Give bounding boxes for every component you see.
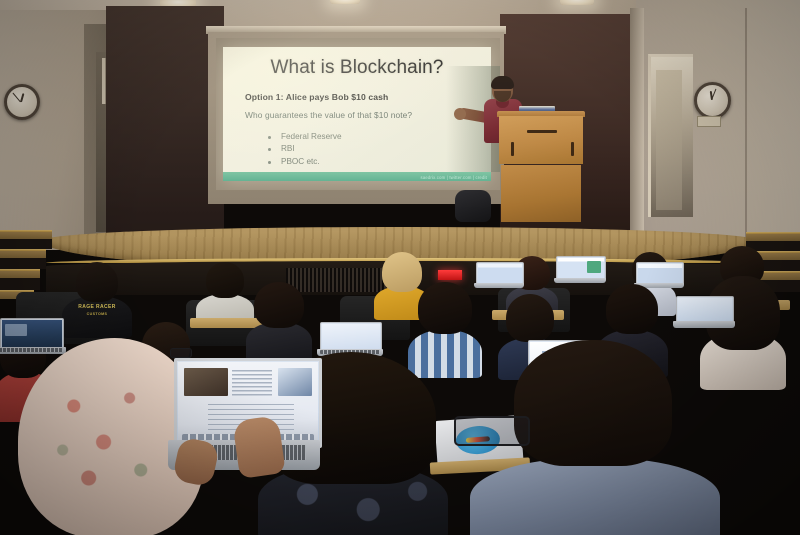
podium-handle-left xyxy=(511,142,514,156)
podium-upper-panel xyxy=(499,116,583,164)
laptop[interactable] xyxy=(556,256,604,284)
slide-bullet-item: PBOC etc. xyxy=(267,156,342,168)
ceiling-light-2 xyxy=(330,0,360,4)
podium xyxy=(497,111,585,222)
presenter-hand xyxy=(454,108,466,120)
podium-slot xyxy=(527,130,557,133)
slide-footer-text: saedrix.com | twitter.com | credit xyxy=(421,175,487,180)
wall-sign-right xyxy=(697,116,721,127)
laptop-screen-content xyxy=(638,264,682,284)
backpack-on-stage xyxy=(455,190,491,222)
stage-red-indicator xyxy=(438,270,462,280)
laptop[interactable] xyxy=(320,322,380,356)
laptop-base[interactable] xyxy=(554,278,606,283)
audience-member-foreground xyxy=(470,340,720,535)
lecture-hall-photo: What is Blockchain? Option 1: Alice pays… xyxy=(0,0,800,535)
laptop-window-panel xyxy=(587,261,601,273)
laptop[interactable] xyxy=(676,296,732,328)
eyeglasses xyxy=(170,348,192,358)
laptop-screen[interactable] xyxy=(676,296,734,324)
browser-image-thumb xyxy=(184,368,228,396)
student-hair xyxy=(514,340,672,466)
student-torso: RAGE RACER CUSTOMS xyxy=(62,296,132,338)
student-hair xyxy=(76,262,118,302)
browser-text-block xyxy=(232,370,272,396)
slide-footer-bar: saedrix.com | twitter.com | credit xyxy=(223,172,491,181)
audience-member: RAGE RACER CUSTOMS xyxy=(62,258,132,336)
laptop[interactable] xyxy=(0,318,62,354)
eyeglasses xyxy=(454,416,530,446)
slide-bullet-list: Federal Reserve RBI PBOC etc. xyxy=(267,131,342,168)
student-hair xyxy=(606,284,658,334)
student-hair xyxy=(506,294,554,342)
ceiling-light-3 xyxy=(560,0,594,5)
wall-clock-right xyxy=(694,82,731,119)
presenter-hair xyxy=(491,76,514,89)
laptop-screen[interactable] xyxy=(320,322,382,352)
laptop-screen-content xyxy=(322,324,380,350)
wall-clock-left xyxy=(4,84,40,120)
slide-question: Who guarantees the value of that $10 not… xyxy=(245,110,412,120)
wall-right-corner xyxy=(630,8,644,246)
podium-handle-right xyxy=(571,142,574,156)
tshirt-print: RAGE RACER xyxy=(62,304,132,310)
audience-member xyxy=(246,282,312,360)
laptop-base[interactable] xyxy=(0,347,66,354)
student-hair xyxy=(254,282,304,328)
laptop-screen-content xyxy=(678,298,732,322)
laptop-screen[interactable] xyxy=(0,318,64,350)
student-hair xyxy=(418,282,472,334)
tshirt-print-sub: CUSTOMS xyxy=(62,312,132,316)
wall-panel-dark-left xyxy=(106,6,224,250)
door-right-inner xyxy=(656,70,682,210)
wall-right-seam xyxy=(745,8,747,240)
laptop-screen-content xyxy=(478,264,522,284)
slide-bullet-item: Federal Reserve xyxy=(267,131,342,143)
laptop[interactable] xyxy=(476,262,522,288)
slide-subtitle: Option 1: Alice pays Bob $10 cash xyxy=(245,92,388,102)
browser-image-thumb xyxy=(278,368,312,396)
presentation-slide: What is Blockchain? Option 1: Alice pays… xyxy=(223,47,491,181)
laptop-keyboard[interactable] xyxy=(0,348,63,352)
podium-lower-panel xyxy=(501,165,581,222)
student-torso xyxy=(470,458,720,535)
laptop-base[interactable] xyxy=(673,321,735,328)
slide-bullet-item: RBI xyxy=(267,143,342,155)
slide-title: What is Blockchain? xyxy=(223,57,491,79)
student-hair xyxy=(206,262,244,298)
laptop-window-panel xyxy=(5,324,27,336)
